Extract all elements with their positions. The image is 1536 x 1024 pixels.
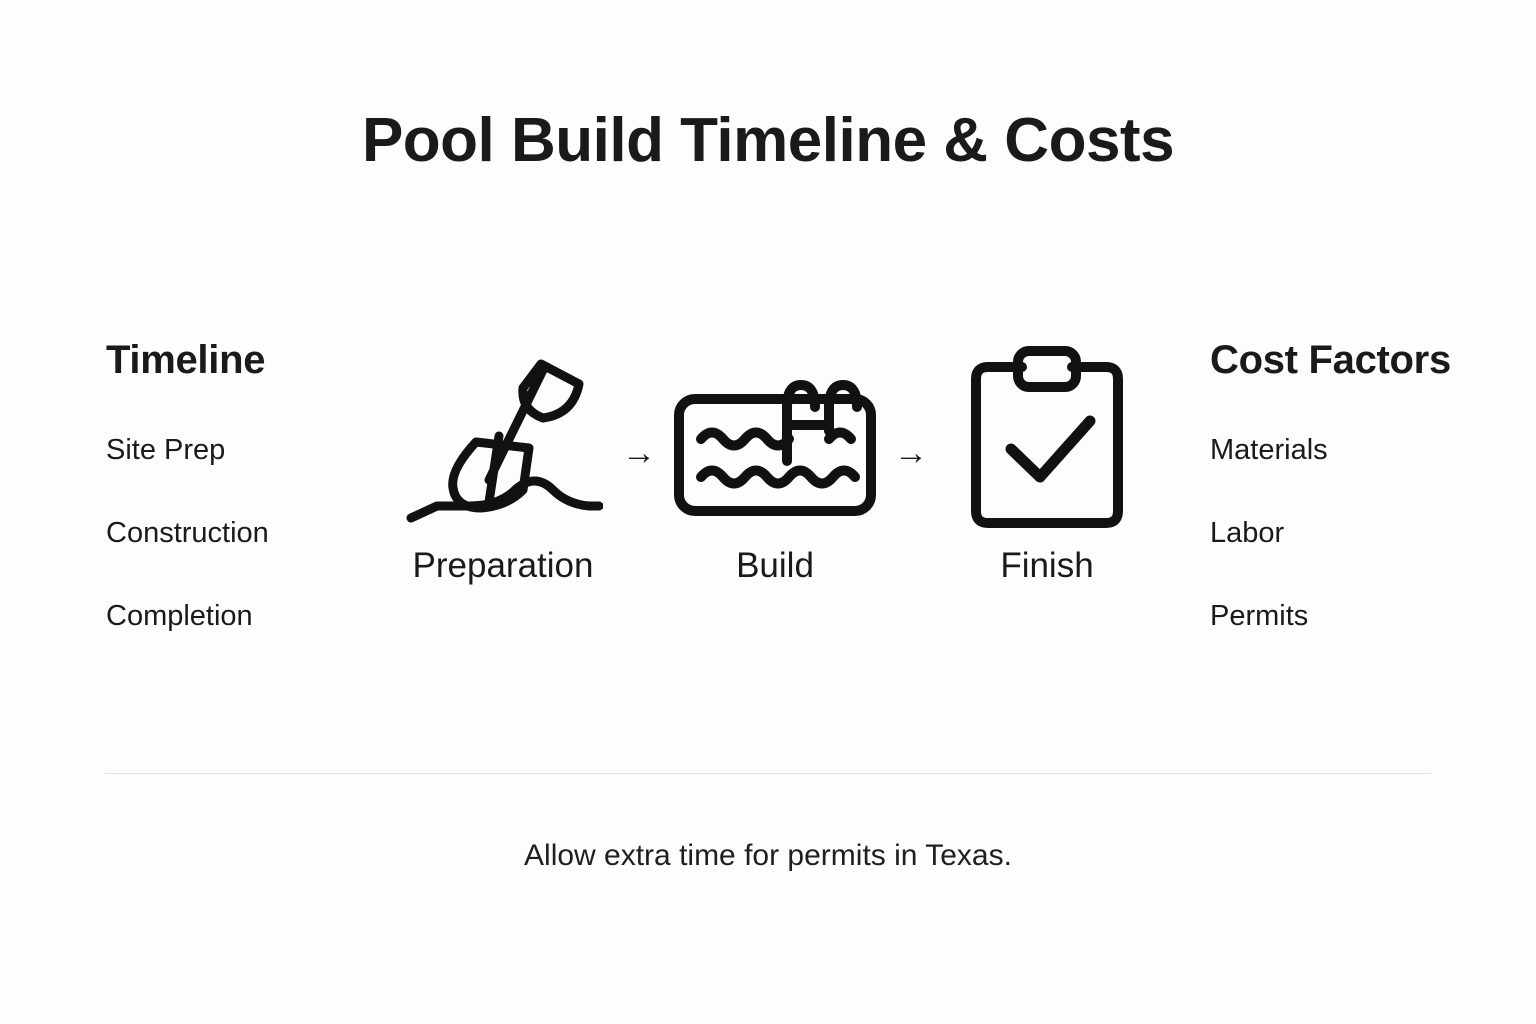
footer-note: Allow extra time for permits in Texas.	[0, 838, 1536, 874]
content-band: Timeline Site Prep Construction Completi…	[0, 340, 1536, 670]
flow-step-build: Build	[662, 340, 888, 583]
flow-step-finish: Finish	[934, 340, 1160, 583]
cost-factors-heading: Cost Factors	[1210, 340, 1451, 380]
flow-step-label-preparation: Preparation	[413, 548, 594, 583]
cost-factor-item-labor: Labor	[1210, 519, 1451, 548]
process-flow: Preparation →	[390, 340, 1160, 620]
cost-factors-column: Cost Factors Materials Labor Permits	[1210, 340, 1451, 631]
arrow-right-icon-1: →	[616, 436, 662, 470]
flow-step-label-build: Build	[736, 548, 814, 583]
flow-step-label-finish: Finish	[1000, 548, 1093, 583]
swimming-pool-icon	[670, 340, 880, 540]
timeline-item-construction: Construction	[106, 519, 269, 548]
timeline-item-site-prep: Site Prep	[106, 436, 269, 465]
shovel-in-ground-icon	[403, 340, 603, 540]
page-title: Pool Build Timeline & Costs	[0, 108, 1536, 173]
horizontal-divider	[105, 773, 1431, 774]
clipboard-check-icon	[967, 340, 1127, 540]
flow-step-preparation: Preparation	[390, 340, 616, 583]
timeline-column: Timeline Site Prep Construction Completi…	[106, 340, 269, 631]
cost-factor-item-permits: Permits	[1210, 602, 1451, 631]
timeline-item-completion: Completion	[106, 602, 269, 631]
arrow-right-icon-2: →	[888, 436, 934, 470]
timeline-heading: Timeline	[106, 340, 269, 380]
cost-factor-item-materials: Materials	[1210, 436, 1451, 465]
